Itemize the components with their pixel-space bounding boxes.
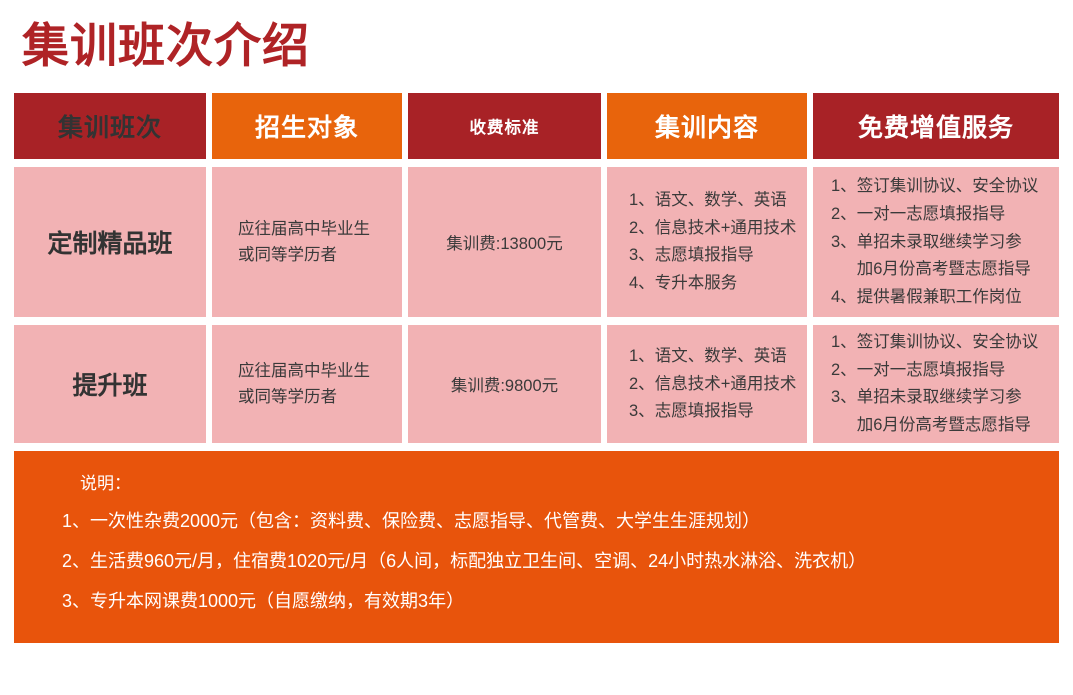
programs-table: 集训班次 招生对象 收费标准 集训内容 免费增值服务 定制精品班 应往届高中毕业… xyxy=(14,93,1059,643)
notes-heading: 说明： xyxy=(14,475,1059,492)
column-header-program: 集训班次 xyxy=(14,93,206,159)
list-item: 2、信息技术+通用技术 xyxy=(629,371,796,399)
table-row: 提升班 应往届高中毕业生 或同等学历者 集训费:9800元 1、语文、数学、英语… xyxy=(14,325,1059,443)
program-fee: 集训费:13800元 xyxy=(408,167,601,317)
column-header-services: 免费增值服务 xyxy=(813,93,1059,159)
list-item: 1、签订集训协议、安全协议 xyxy=(831,173,1038,201)
list-item: 1、语文、数学、英语 xyxy=(629,343,796,371)
audience-line: 应往届高中毕业生 xyxy=(238,216,370,243)
list-item: 3、志愿填报指导 xyxy=(629,398,796,426)
column-header-content: 集训内容 xyxy=(607,93,807,159)
list-item: 2、信息技术+通用技术 xyxy=(629,215,796,243)
note-item: 2、生活费960元/月，住宿费1020元/月（6人间，标配独立卫生间、空调、24… xyxy=(14,552,1059,570)
table-row: 定制精品班 应往届高中毕业生 或同等学历者 集训费:13800元 1、语文、数学… xyxy=(14,167,1059,317)
list-item: 2、一对一志愿填报指导 xyxy=(831,357,1038,385)
note-item: 3、专升本网课费1000元（自愿缴纳，有效期3年） xyxy=(14,592,1059,610)
list-item: 2、一对一志愿填报指导 xyxy=(831,201,1038,229)
list-item: 4、专升本服务 xyxy=(629,270,796,298)
program-services: 1、签订集训协议、安全协议 2、一对一志愿填报指导 3、单招未录取继续学习参加6… xyxy=(813,167,1059,317)
list-item: 1、签订集训协议、安全协议 xyxy=(831,329,1038,357)
program-name: 提升班 xyxy=(14,325,206,443)
note-item: 1、一次性杂费2000元（包含：资料费、保险费、志愿指导、代管费、大学生生涯规划… xyxy=(14,512,1059,530)
program-audience: 应往届高中毕业生 或同等学历者 xyxy=(212,167,402,317)
program-audience: 应往届高中毕业生 或同等学历者 xyxy=(212,325,402,443)
list-item: 3、单招未录取继续学习参加6月份高考暨志愿指导 xyxy=(831,384,1038,439)
list-item: 4、提供暑假兼职工作岗位 xyxy=(831,284,1038,312)
column-header-audience: 招生对象 xyxy=(212,93,402,159)
audience-line: 应往届高中毕业生 xyxy=(238,358,370,385)
page-root: 集训班次介绍 集训班次 招生对象 收费标准 集训内容 免费增值服务 定制精品班 … xyxy=(0,0,1073,695)
table-header-row: 集训班次 招生对象 收费标准 集训内容 免费增值服务 xyxy=(14,93,1059,159)
list-item: 3、单招未录取继续学习参加6月份高考暨志愿指导 xyxy=(831,229,1038,284)
page-title: 集训班次介绍 xyxy=(14,0,1059,79)
program-name: 定制精品班 xyxy=(14,167,206,317)
list-item: 3、志愿填报指导 xyxy=(629,242,796,270)
program-services: 1、签订集训协议、安全协议 2、一对一志愿填报指导 3、单招未录取继续学习参加6… xyxy=(813,325,1059,443)
program-content: 1、语文、数学、英语 2、信息技术+通用技术 3、志愿填报指导 xyxy=(607,325,807,443)
list-item: 1、语文、数学、英语 xyxy=(629,187,796,215)
notes-panel: 说明： 1、一次性杂费2000元（包含：资料费、保险费、志愿指导、代管费、大学生… xyxy=(14,451,1059,643)
audience-line: 或同等学历者 xyxy=(238,384,370,411)
column-header-fee: 收费标准 xyxy=(408,93,601,159)
program-fee: 集训费:9800元 xyxy=(408,325,601,443)
program-content: 1、语文、数学、英语 2、信息技术+通用技术 3、志愿填报指导 4、专升本服务 xyxy=(607,167,807,317)
audience-line: 或同等学历者 xyxy=(238,242,370,269)
